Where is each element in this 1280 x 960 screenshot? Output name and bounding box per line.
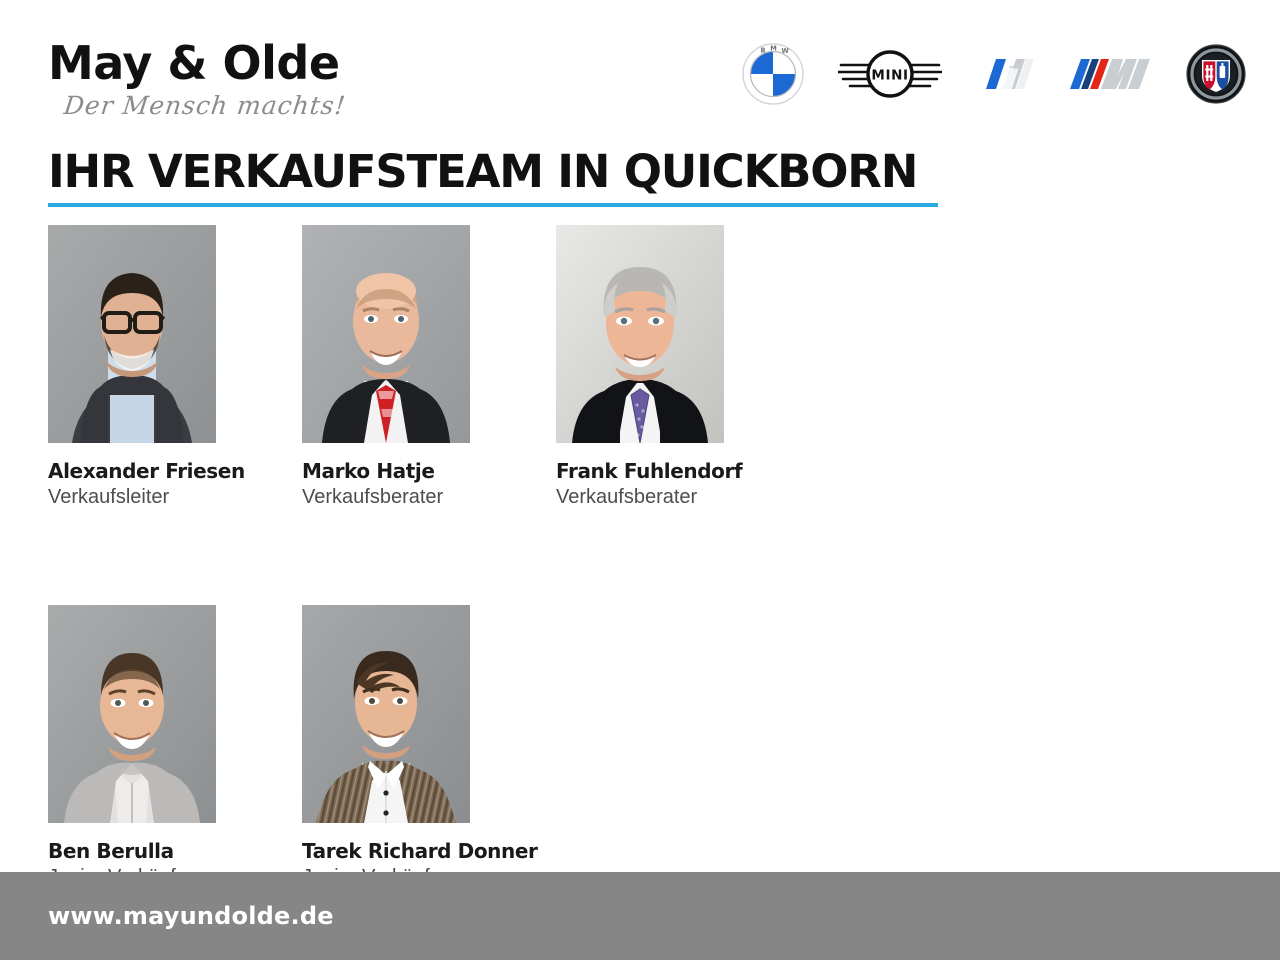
svg-text:W: W xyxy=(782,47,790,55)
page-footer: www.mayundolde.de xyxy=(0,872,1280,960)
member-name: Alexander Friesen xyxy=(48,459,216,483)
member-name: Frank Fuhlendorf xyxy=(556,459,724,483)
member-role: Verkaufsberater xyxy=(302,485,470,509)
team-member-card[interactable]: Tarek Richard Donner Junior Verkäufer xyxy=(302,605,470,889)
bmw-logo: B M W xyxy=(742,43,804,105)
team-grid: Alexander Friesen Verkaufsleiter xyxy=(48,225,1238,889)
member-name: Marko Hatje xyxy=(302,459,470,483)
member-name: Tarek Richard Donner xyxy=(302,839,470,863)
avatar xyxy=(48,225,216,443)
team-page: May & Olde Der Mensch machts! B M W xyxy=(0,0,1280,960)
page-title-block: IHR VERKAUFSTEAM IN QUICKBORN xyxy=(48,146,948,207)
company-tagline: Der Mensch machts! xyxy=(62,89,380,123)
brand-logo-strip: B M W xyxy=(742,44,1246,104)
avatar xyxy=(302,225,470,443)
member-name: Ben Berulla xyxy=(48,839,216,863)
alpina-logo xyxy=(1186,44,1246,104)
page-header: May & Olde Der Mensch machts! B M W xyxy=(0,0,1280,140)
company-logo[interactable]: May & Olde Der Mensch machts! xyxy=(48,38,378,130)
title-underline xyxy=(48,203,938,207)
team-row: Ben Berulla Junior Verkäufer xyxy=(48,605,1238,889)
member-role: Verkaufsberater xyxy=(556,485,724,509)
bmw-i-logo xyxy=(976,57,1034,91)
team-member-card[interactable]: Marko Hatje Verkaufsberater xyxy=(302,225,470,509)
page-title: IHR VERKAUFSTEAM IN QUICKBORN xyxy=(48,146,948,198)
team-row: Alexander Friesen Verkaufsleiter xyxy=(48,225,1238,509)
avatar xyxy=(302,605,470,823)
website-url[interactable]: www.mayundolde.de xyxy=(48,902,334,930)
bmw-m-logo xyxy=(1068,57,1152,91)
avatar xyxy=(556,225,724,443)
svg-text:M: M xyxy=(770,44,777,52)
svg-text:B: B xyxy=(761,47,766,55)
company-name: May & Olde xyxy=(48,38,378,88)
team-member-card[interactable]: Frank Fuhlendorf Verkaufsberater xyxy=(556,225,724,509)
avatar xyxy=(48,605,216,823)
team-member-card[interactable]: Alexander Friesen Verkaufsleiter xyxy=(48,225,216,509)
mini-logo: MINI xyxy=(838,48,942,100)
svg-text:MINI: MINI xyxy=(871,68,908,84)
team-member-card[interactable]: Ben Berulla Junior Verkäufer xyxy=(48,605,216,889)
member-role: Verkaufsleiter xyxy=(48,485,216,509)
